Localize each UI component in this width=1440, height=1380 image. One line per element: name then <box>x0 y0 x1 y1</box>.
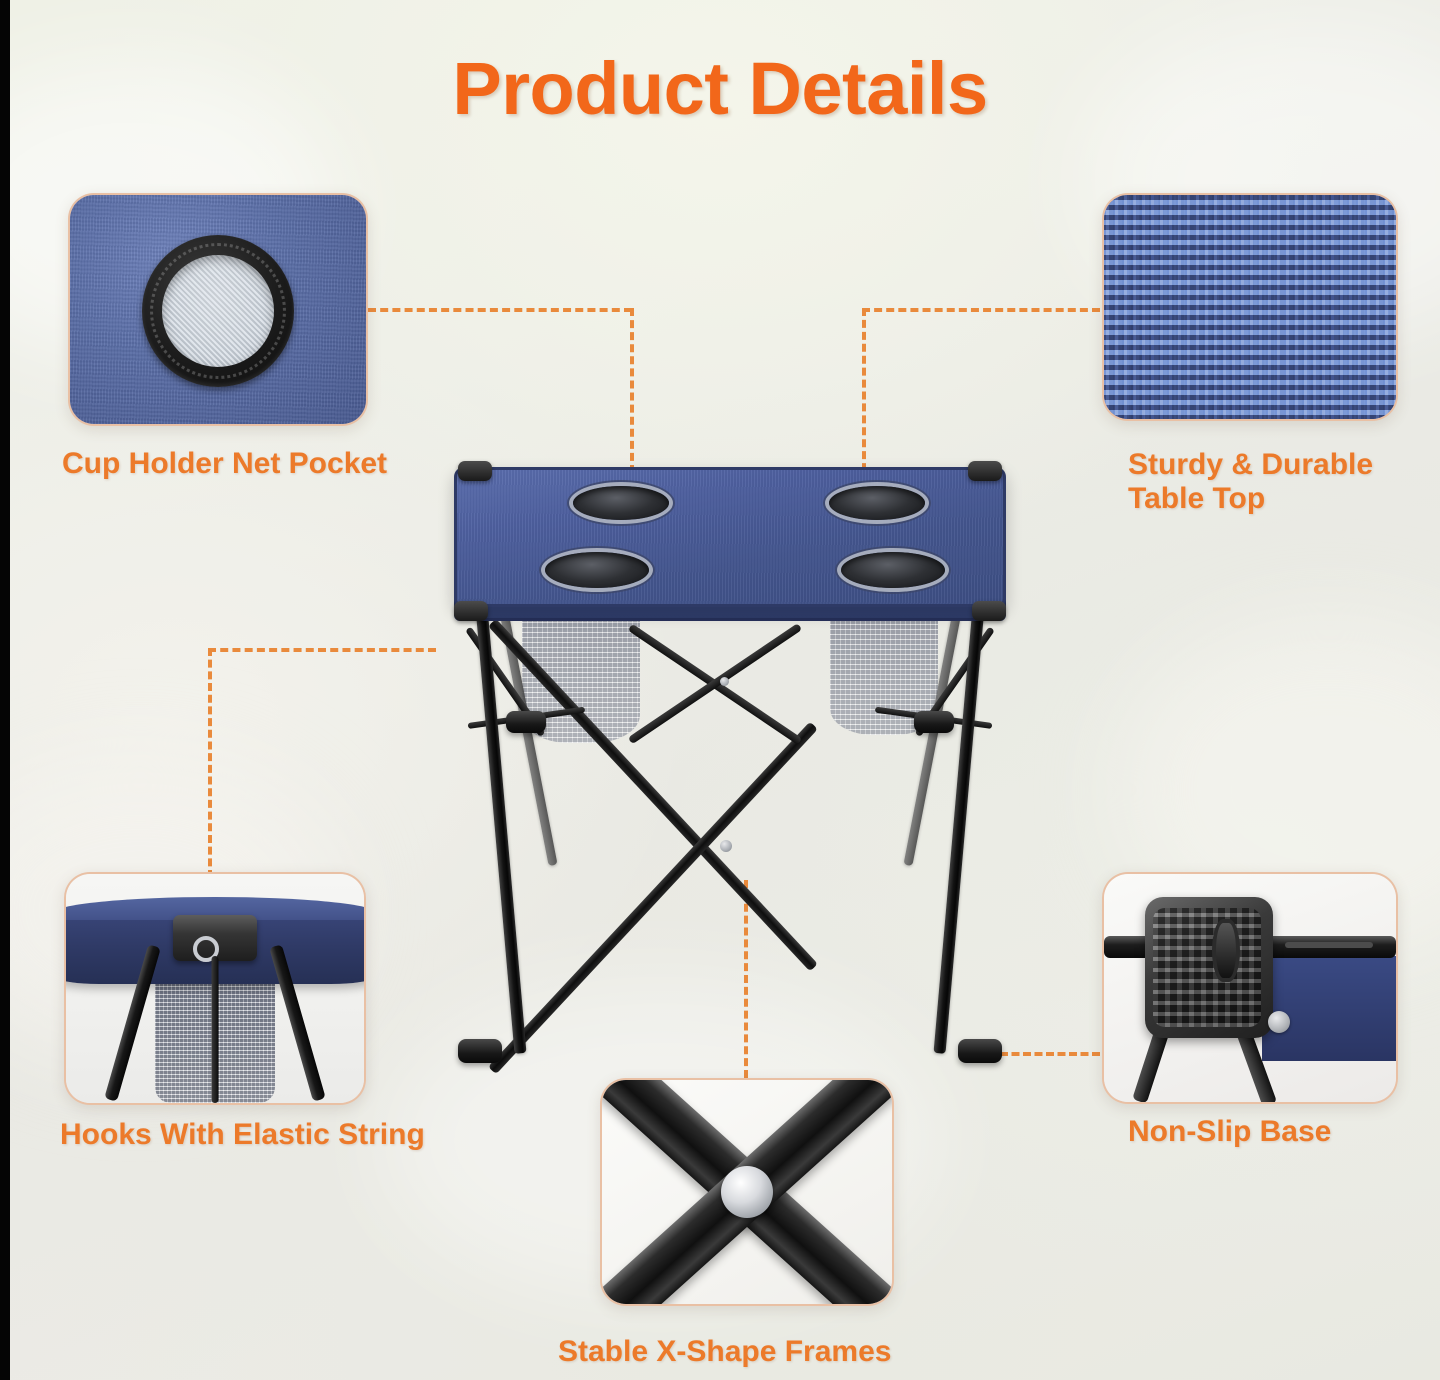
center-rivet <box>721 1166 773 1218</box>
connector-table-top-horizontal <box>862 308 1100 312</box>
connector-cup-holder-horizontal <box>368 308 632 312</box>
foot-screw <box>1268 1011 1290 1033</box>
corner-cap <box>454 601 488 621</box>
callout-label-cup-holder-net-pocket: Cup Holder Net Pocket <box>62 447 482 481</box>
callout-label-hooks-with-elastic-string: Hooks With Elastic String <box>60 1118 530 1152</box>
cup-holder-hole <box>841 552 945 588</box>
side-connector-left <box>506 711 546 733</box>
callout-card-stable-x-shape-frames[interactable] <box>600 1078 894 1306</box>
connector-hooks-vertical <box>208 648 212 878</box>
callout-card-non-slip-base[interactable] <box>1102 872 1398 1104</box>
connector-cup-holder-vertical <box>630 308 634 473</box>
corner-cap <box>968 461 1002 481</box>
elastic-cord <box>1285 942 1373 948</box>
foot-slot <box>1212 919 1240 981</box>
infographic-canvas: Product Details Cup Holder Net Pocket St… <box>0 0 1440 1380</box>
grommet-ring-icon <box>142 235 294 387</box>
callout-card-cup-holder-net-pocket[interactable] <box>68 193 368 426</box>
callout-label-stable-x-shape-frames: Stable X-Shape Frames <box>558 1335 978 1369</box>
callout-label-sturdy-durable-table-top: Sturdy & Durable Table Top <box>1128 448 1440 516</box>
table-top-surface[interactable] <box>454 467 1006 607</box>
non-slip-foot-right <box>958 1039 1002 1063</box>
callout-label-non-slip-base: Non-Slip Base <box>1128 1115 1440 1149</box>
non-slip-foot-left <box>458 1039 502 1063</box>
elastic-cord <box>212 956 219 1103</box>
page-title: Product Details <box>0 46 1440 131</box>
callout-card-sturdy-durable-table-top[interactable] <box>1102 193 1398 421</box>
cup-holder-hole <box>829 486 925 520</box>
fabric-weave-icon <box>1104 195 1396 419</box>
cup-holder-hole <box>573 486 669 520</box>
x-brace-pivot <box>720 840 732 852</box>
rubber-foot-icon <box>1145 897 1273 1038</box>
navy-fabric-backdrop <box>1262 956 1396 1061</box>
film-edge-bar <box>0 0 10 1380</box>
cup-holder-hole <box>545 552 649 588</box>
connector-hooks-horizontal <box>208 648 436 652</box>
callout-card-hooks-with-elastic-string[interactable] <box>64 872 366 1105</box>
corner-cap <box>972 601 1006 621</box>
product-folding-table <box>440 455 1020 1075</box>
side-connector-right <box>914 711 954 733</box>
upper-x-pivot <box>720 677 729 686</box>
